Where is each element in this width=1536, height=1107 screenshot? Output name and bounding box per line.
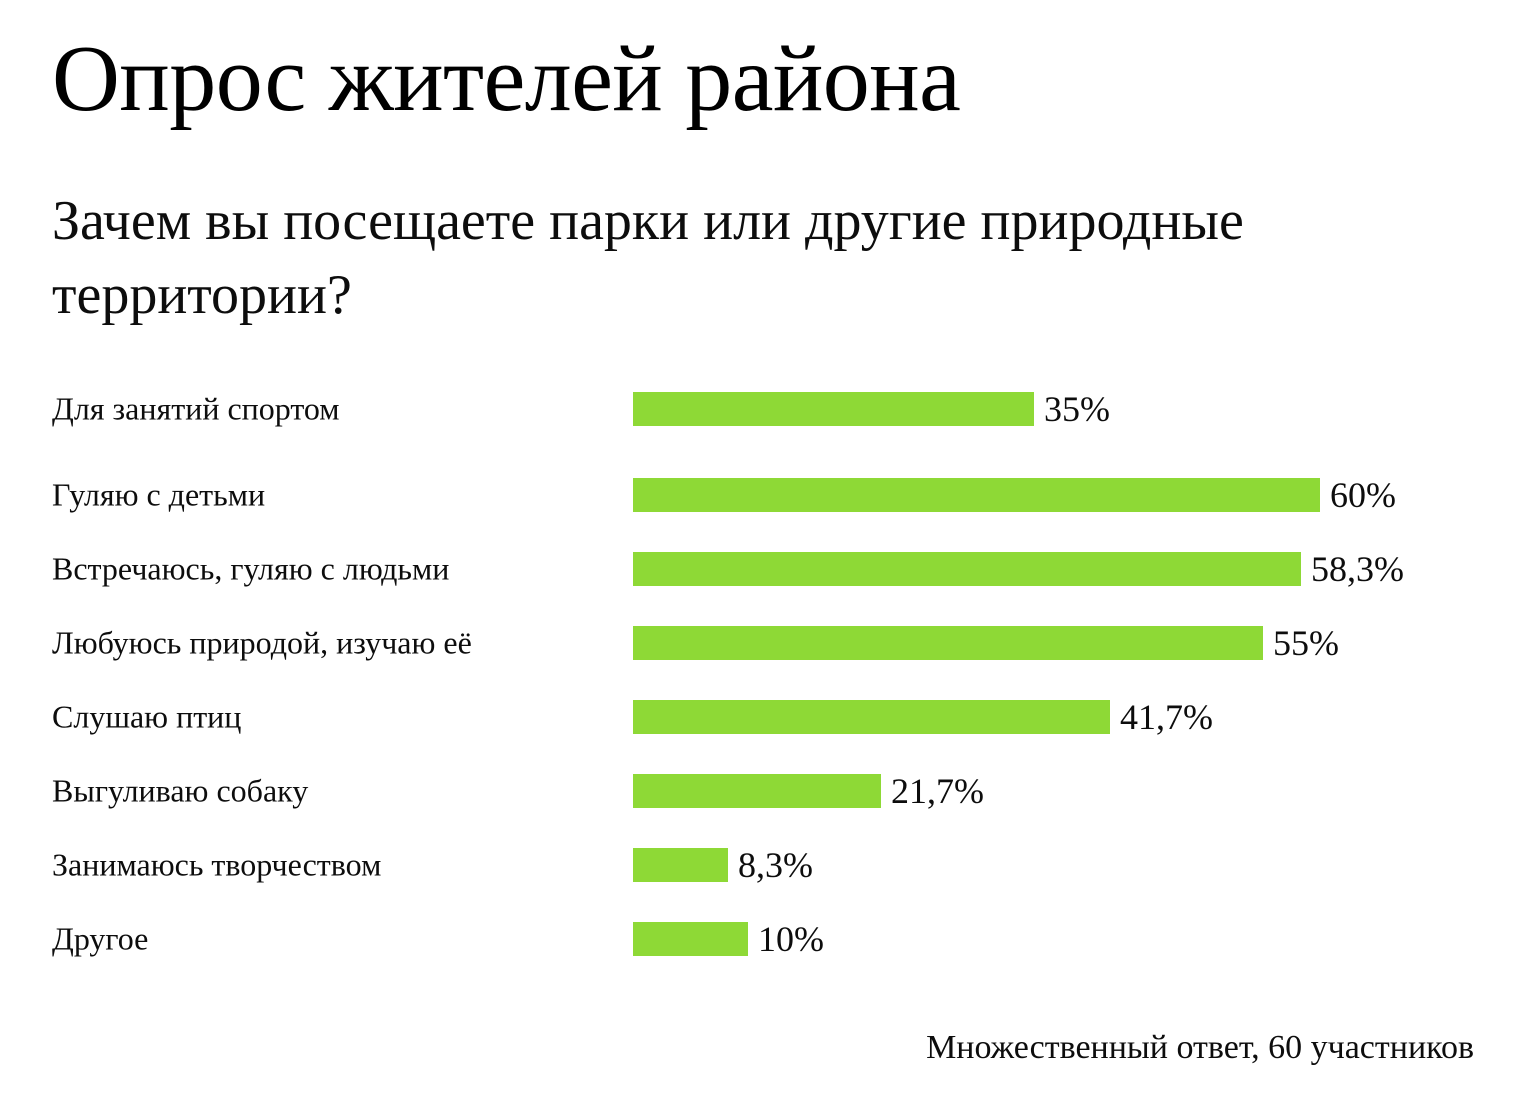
bar-fill <box>633 848 728 882</box>
bar-category-label: Встречаюсь, гуляю с людьми <box>52 551 612 586</box>
bar-track: 21,7% <box>633 774 1513 808</box>
bar-track: 55% <box>633 626 1513 660</box>
bar-chart-plot-area: Для занятий спортом35%Гуляю с детьми60%В… <box>0 375 1536 985</box>
bar-row: Занимаюсь творчеством8,3% <box>0 848 1536 882</box>
bar-category-label: Другое <box>52 921 612 956</box>
bar-category-label: Для занятий спортом <box>52 391 612 426</box>
bar-row: Любуюсь природой, изучаю её55% <box>0 626 1536 660</box>
bar-track: 58,3% <box>633 552 1513 586</box>
bar-row: Другое10% <box>0 922 1536 956</box>
bar-track: 35% <box>633 392 1513 426</box>
bar-value-label: 8,3% <box>728 847 813 883</box>
bar-value-label: 60% <box>1320 477 1396 513</box>
bar-fill <box>633 700 1110 734</box>
bar-track: 41,7% <box>633 700 1513 734</box>
bar-value-label: 10% <box>748 921 824 957</box>
bar-row: Выгуливаю собаку21,7% <box>0 774 1536 808</box>
bar-fill <box>633 392 1034 426</box>
bar-row: Встречаюсь, гуляю с людьми58,3% <box>0 552 1536 586</box>
bar-fill <box>633 626 1263 660</box>
bar-track: 60% <box>633 478 1513 512</box>
bar-row: Слушаю птиц41,7% <box>0 700 1536 734</box>
bar-fill <box>633 478 1320 512</box>
bar-category-label: Занимаюсь творчеством <box>52 847 612 882</box>
bar-row: Для занятий спортом35% <box>0 392 1536 426</box>
bar-fill <box>633 774 881 808</box>
page-title: Опрос жителей района <box>52 30 960 129</box>
chart-subtitle: Зачем вы посещаете парки или другие прир… <box>52 185 1302 333</box>
chart-footnote: Множественный ответ, 60 участников <box>926 1028 1474 1069</box>
chart-slide: Опрос жителей района Зачем вы посещаете … <box>0 0 1536 1107</box>
bar-category-label: Любуюсь природой, изучаю её <box>52 625 612 660</box>
bar-value-label: 58,3% <box>1301 551 1404 587</box>
bar-value-label: 35% <box>1034 391 1110 427</box>
bar-value-label: 21,7% <box>881 773 984 809</box>
bar-category-label: Выгуливаю собаку <box>52 773 612 808</box>
bar-fill <box>633 552 1301 586</box>
bar-value-label: 41,7% <box>1110 699 1213 735</box>
bar-value-label: 55% <box>1263 625 1339 661</box>
bar-category-label: Гуляю с детьми <box>52 477 612 512</box>
bar-track: 8,3% <box>633 848 1513 882</box>
bar-category-label: Слушаю птиц <box>52 699 612 734</box>
bar-row: Гуляю с детьми60% <box>0 478 1536 512</box>
bar-track: 10% <box>633 922 1513 956</box>
bar-fill <box>633 922 748 956</box>
